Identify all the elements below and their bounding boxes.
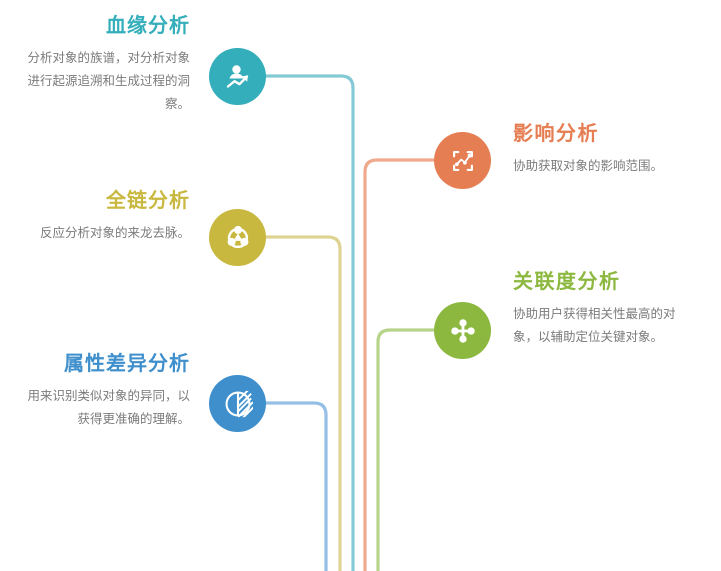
connector-full-chain	[265, 237, 340, 571]
node-title-full-chain: 全链分析	[20, 189, 190, 213]
textblock-full-chain: 全链分析 反应分析对象的来龙去脉。	[20, 189, 190, 245]
node-title-relevance: 关联度分析	[513, 270, 693, 294]
textblock-lineage: 血缘分析 分析对象的族谱，对分析对象进行起源追溯和生成过程的洞察。	[20, 14, 190, 116]
node-circle-relevance[interactable]	[434, 302, 491, 359]
node-circle-lineage[interactable]	[209, 48, 266, 105]
textblock-attribute-diff: 属性差异分析 用来识别类似对象的异同，以获得更准确的理解。	[20, 352, 190, 431]
node-circle-impact[interactable]	[434, 132, 491, 189]
connector-impact	[365, 160, 434, 571]
connector-attribute-diff	[265, 403, 326, 571]
network-ring-icon	[223, 223, 253, 253]
person-trend-icon	[222, 61, 254, 93]
textblock-impact: 影响分析 协助获取对象的影响范围。	[513, 122, 693, 178]
node-title-impact: 影响分析	[513, 122, 693, 146]
relation-cross-icon	[448, 316, 478, 346]
node-circle-full-chain[interactable]	[209, 209, 266, 266]
connector-relevance	[378, 330, 434, 571]
infographic-canvas: 血缘分析 分析对象的族谱，对分析对象进行起源追溯和生成过程的洞察。 全链分析 反…	[0, 0, 721, 571]
node-desc-relevance: 协助用户获得相关性最高的对象，以辅助定位关键对象。	[513, 303, 693, 349]
node-desc-impact: 协助获取对象的影响范围。	[513, 155, 693, 178]
node-desc-full-chain: 反应分析对象的来龙去脉。	[20, 222, 190, 245]
node-desc-lineage: 分析对象的族谱，对分析对象进行起源追溯和生成过程的洞察。	[20, 47, 190, 116]
connector-lineage	[265, 76, 353, 571]
node-desc-attribute-diff: 用来识别类似对象的异同，以获得更准确的理解。	[20, 385, 190, 431]
chart-frame-icon	[448, 146, 478, 176]
node-title-lineage: 血缘分析	[20, 14, 190, 38]
node-circle-attribute-diff[interactable]	[209, 375, 266, 432]
contrast-circle-icon	[223, 389, 253, 419]
textblock-relevance: 关联度分析 协助用户获得相关性最高的对象，以辅助定位关键对象。	[513, 270, 693, 349]
node-title-attribute-diff: 属性差异分析	[20, 352, 190, 376]
